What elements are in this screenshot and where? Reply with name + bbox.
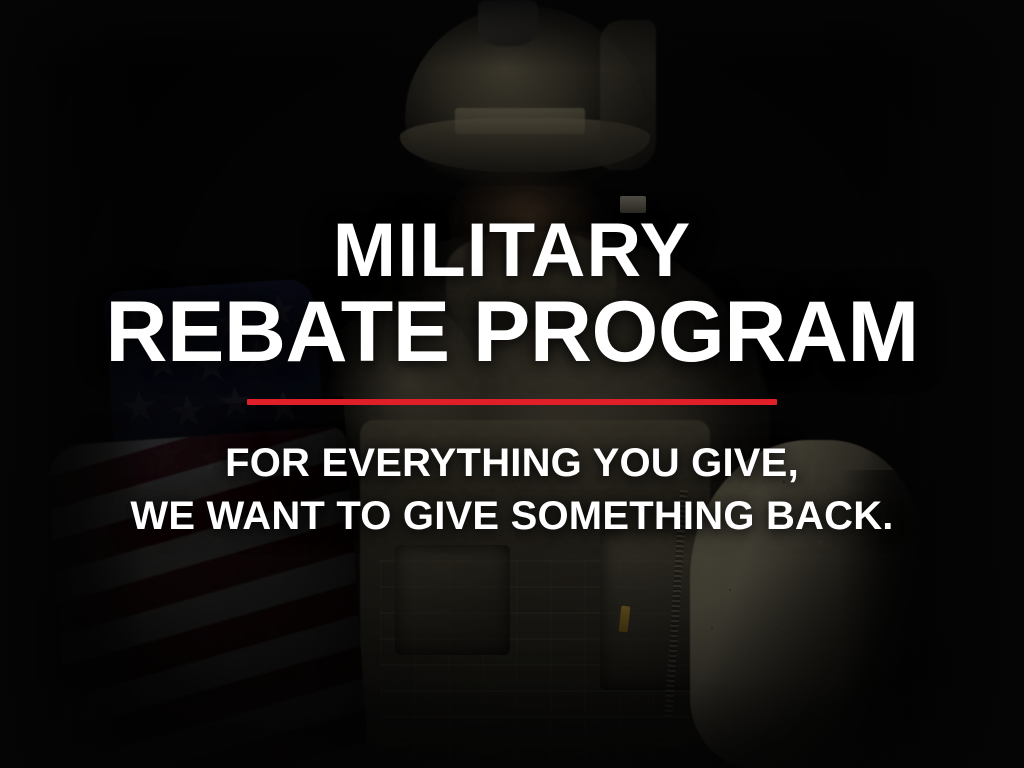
military-rebate-poster: MILITARY REBATE PROGRAM FOR EVERYTHING Y… xyxy=(0,0,1024,768)
poster-content: MILITARY REBATE PROGRAM FOR EVERYTHING Y… xyxy=(0,0,1024,768)
poster-subtitle: FOR EVERYTHING YOU GIVE, WE WANT TO GIVE… xyxy=(130,439,893,541)
headline-line-2: REBATE PROGRAM xyxy=(105,292,918,373)
subtitle-line-1: FOR EVERYTHING YOU GIVE, xyxy=(130,439,893,488)
headline-line-1: MILITARY xyxy=(105,215,918,286)
subtitle-line-2: WE WANT TO GIVE SOMETHING BACK. xyxy=(130,492,893,541)
red-divider-rule xyxy=(247,399,777,405)
page-title: MILITARY REBATE PROGRAM xyxy=(105,0,918,373)
